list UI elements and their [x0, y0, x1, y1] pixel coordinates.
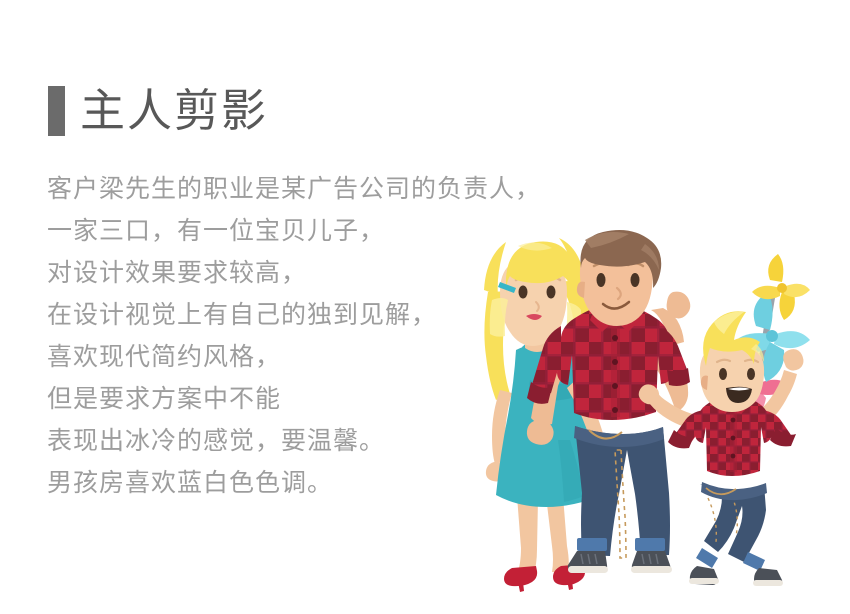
son-eye-left: [719, 368, 727, 380]
page-root: 主人剪影 客户梁先生的职业是某广告公司的负责人， 一家三口，有一位宝贝儿子， 对…: [0, 0, 850, 614]
father-shirt-button: [612, 383, 618, 389]
father-shirt-button: [612, 407, 618, 413]
father-shirt-button: [612, 335, 618, 341]
father-eye-left: [597, 273, 606, 287]
son-hand-right: [783, 349, 803, 370]
mother-eye-left: [519, 286, 528, 299]
family-illustration: [470, 230, 820, 610]
father-jeans-cuff-right: [635, 538, 665, 551]
mother-leg-left: [517, 496, 538, 577]
son-eye-right: [747, 368, 755, 380]
son-shirt-button: [731, 418, 736, 423]
son-shirt-button: [731, 436, 736, 441]
son-jeans-cuff-left: [696, 548, 718, 568]
page-heading: 主人剪影: [48, 86, 268, 136]
father-shirt-button: [612, 359, 618, 365]
son-shirt-button: [731, 454, 736, 459]
title-accent-bar: [48, 86, 65, 136]
father-jeans-cuff-left: [577, 538, 607, 551]
description-line: 客户梁先生的职业是某广告公司的负责人，: [47, 168, 607, 210]
mother-eye-right: [547, 286, 556, 299]
father-eye-right: [631, 273, 640, 287]
page-title: 主人剪影: [80, 86, 268, 136]
mother-leg-right: [546, 496, 569, 574]
